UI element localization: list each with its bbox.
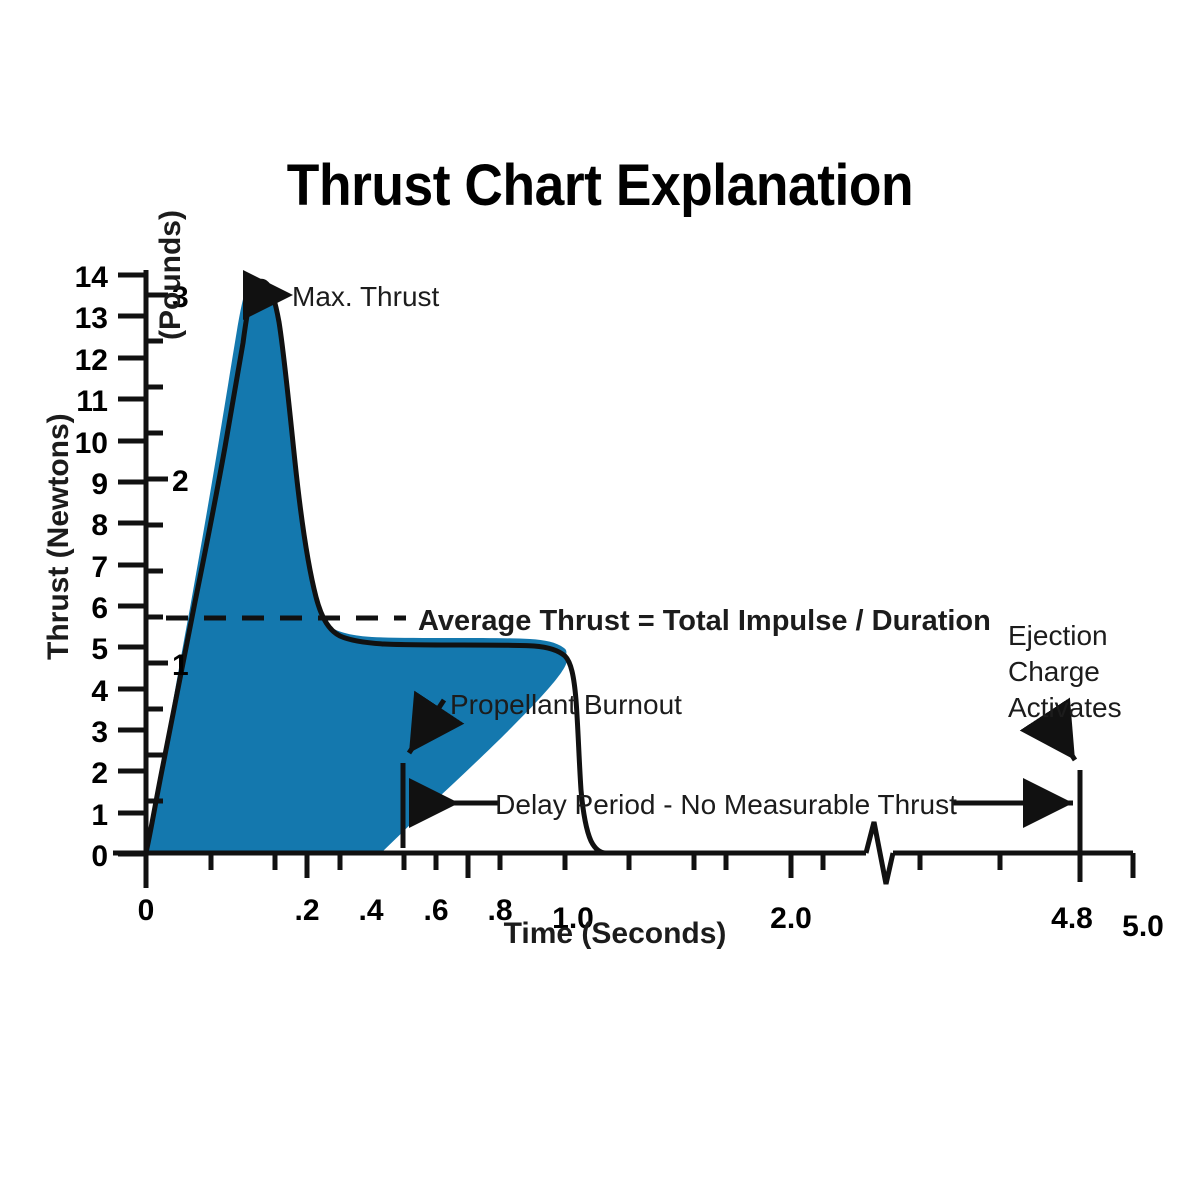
x-tick-label: .4 bbox=[358, 894, 383, 927]
x-axis-major-ticks bbox=[146, 853, 1133, 888]
y-tick-label: 6 bbox=[91, 592, 108, 625]
ejection-charge-line-3: Activates bbox=[1008, 692, 1122, 723]
thrust-chart-figure: Thrust Chart Explanation bbox=[0, 0, 1200, 1200]
x-tick-label: 5.0 bbox=[1122, 910, 1164, 943]
y-axis-newton-labels: 14 13 12 11 10 9 8 7 6 5 4 3 2 1 0 bbox=[75, 261, 109, 873]
annotation-average-thrust: Average Thrust = Total Impulse / Duratio… bbox=[418, 605, 991, 637]
y-tick-label: 4 bbox=[91, 675, 108, 708]
y-tick-label: 11 bbox=[76, 385, 108, 418]
y2-tick-label: 2 bbox=[172, 465, 189, 498]
x-tick-label: 2.0 bbox=[770, 902, 812, 935]
y-tick-label: 8 bbox=[91, 509, 108, 542]
x-tick-label: .6 bbox=[423, 894, 448, 927]
annotation-delay-period: Delay Period - No Measurable Thrust bbox=[409, 789, 1073, 820]
x-axis-title: Time (Seconds) bbox=[504, 917, 727, 950]
chart-canvas: 14 13 12 11 10 9 8 7 6 5 4 3 2 1 0 3 2 1… bbox=[0, 0, 1200, 1200]
thrust-area-fill-main bbox=[146, 281, 567, 853]
propellant-burnout-label: Propellant Burnout bbox=[450, 689, 682, 720]
thrust-curve-group bbox=[146, 281, 606, 853]
y-tick-label: 10 bbox=[75, 427, 108, 460]
average-thrust-label: Average Thrust = Total Impulse / Duratio… bbox=[418, 605, 991, 637]
y-tick-label: 9 bbox=[91, 468, 108, 501]
y-tick-label: 14 bbox=[75, 261, 109, 294]
x-tick-label: 4.8 bbox=[1051, 902, 1093, 935]
x-tick-label: .2 bbox=[294, 894, 319, 927]
y-axis-secondary-title: (Pounds) bbox=[154, 210, 187, 340]
x-tick-label: 0 bbox=[138, 894, 155, 927]
y-tick-label: 1 bbox=[91, 799, 108, 832]
max-thrust-label: Max. Thrust bbox=[292, 281, 440, 312]
y-tick-label: 5 bbox=[91, 633, 108, 666]
y-tick-label: 3 bbox=[91, 716, 108, 749]
ejection-charge-arrow bbox=[1052, 725, 1075, 760]
y-axis-pound-ticks bbox=[146, 295, 168, 801]
y-tick-label: 7 bbox=[91, 551, 108, 584]
y-axis-primary-title: Thrust (Newtons) bbox=[42, 413, 75, 660]
ejection-charge-line-1: Ejection bbox=[1008, 620, 1108, 651]
y-tick-label: 0 bbox=[91, 840, 108, 873]
y2-tick-label: 1 bbox=[172, 649, 189, 682]
y-tick-label: 12 bbox=[75, 344, 108, 377]
delay-period-label: Delay Period - No Measurable Thrust bbox=[495, 789, 957, 820]
x-axis-break-zigzag bbox=[866, 822, 893, 884]
ejection-charge-line-2: Charge bbox=[1008, 656, 1100, 687]
y-axis-pound-labels: 3 2 1 bbox=[172, 281, 189, 682]
y-tick-label: 2 bbox=[91, 757, 108, 790]
annotation-ejection-charge: Ejection Charge Activates bbox=[1008, 620, 1122, 858]
y-tick-label: 13 bbox=[75, 302, 108, 335]
y-axis-newton-ticks bbox=[118, 275, 146, 854]
